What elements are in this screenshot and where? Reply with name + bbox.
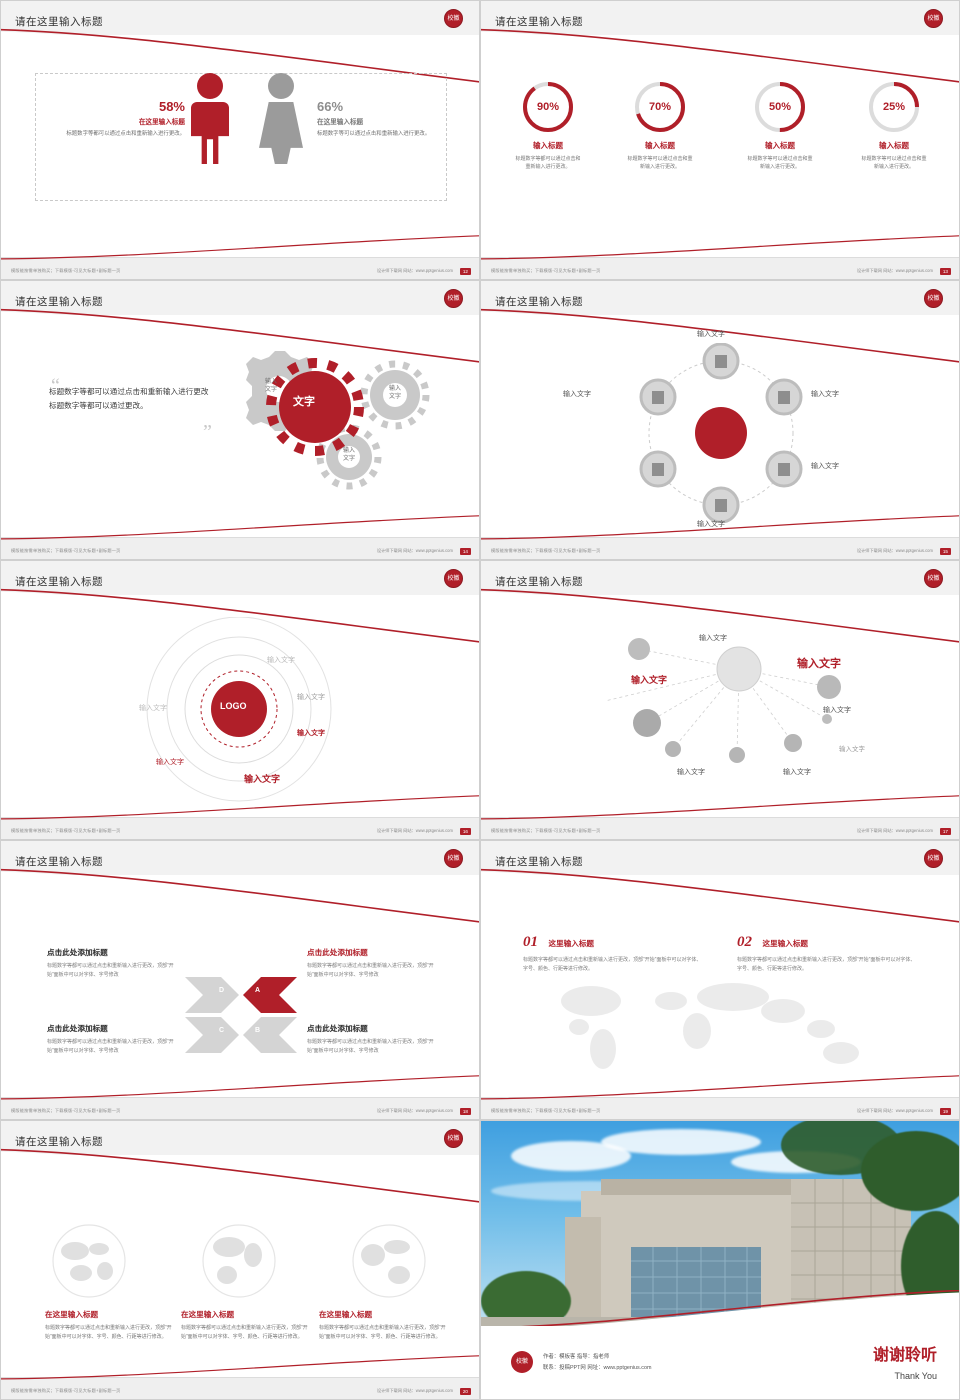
slide-logo-orbit: 请在这里输入标题 校徽 LOGO 输入文字 输入文字 输入文字 输入文字 输入文… <box>480 280 960 560</box>
male-stats: 58% 在这里输入标题 标题数字等都可以通过点击和重新输入进行更改。 <box>63 99 185 139</box>
school-seal-icon: 校徽 <box>444 849 463 868</box>
donut-item: 90% 输入标题 标题数字等都可以通过点击和重新输入进行更改。 <box>493 79 603 171</box>
gear-label-2: 输入文字 <box>383 386 407 402</box>
center-gear-label: 文字 <box>293 393 315 409</box>
donut-value: 90% <box>520 79 576 135</box>
globe-body: 标题数字等都可以通过点击和重新输入进行更改，顶部“开始”面板中可以对字体、字号、… <box>45 1324 177 1342</box>
donut-label: 输入标题 <box>605 140 715 151</box>
orbit-diagram <box>621 343 821 523</box>
world-map-graphic <box>521 971 921 1081</box>
slide-grid: 请在这里输入标题 校徽 58% 在这里输入标题 标题数字等都可以通过点击和重新输… <box>0 0 960 1400</box>
donut-chart-90: 90% <box>520 79 576 135</box>
globe-body: 标题数字等都可以通过点击和重新输入进行更改，顶部“开始”面板中可以对字体、字号、… <box>181 1324 313 1342</box>
quadrant-block-tl: 点击此处添加标题 标题数字等都可以通过点击和重新输入进行更改，顶部“开始”面板中… <box>47 947 175 980</box>
network-label-highlight: 输入文字 <box>797 655 841 671</box>
quadrant-letter-d: D <box>219 987 224 994</box>
footer-swoosh <box>480 795 960 825</box>
concentric-rings-diagram <box>119 617 369 817</box>
globe-column-1: 在这里输入标题 标题数字等都可以通过点击和重新输入进行更改，顶部“开始”面板中可… <box>45 1309 177 1342</box>
credit-block: 作者：模板客 指导：指老师 联系：投稿PPT网 网址：www.pptgenius… <box>543 1352 651 1373</box>
footer-swoosh <box>0 1075 480 1105</box>
page-title: 请在这里输入标题 <box>495 854 583 869</box>
school-seal-icon: 校徽 <box>924 569 943 588</box>
footer-left-note: 模版能按需单独购买；下载模版-可见大标题+副标题一页 <box>491 268 601 274</box>
gear-label-3: 输入文字 <box>337 448 361 464</box>
ring-label-3: 输入文字 <box>297 728 325 738</box>
donut-desc: 标题数字等可以通过点击和重新输入进行更改。 <box>605 155 715 171</box>
donut-item: 70% 输入标题 标题数字等可以通过点击和重新输入进行更改。 <box>605 79 715 171</box>
footer-left-note: 模版能按需单独购买；下载模版-可见大标题+副标题一页 <box>491 828 601 834</box>
footer-right-note: 设计师下载网 网站：www.pptgenius.com <box>857 828 933 834</box>
donut-value: 25% <box>866 79 922 135</box>
slide-four-quadrant: 请在这里输入标题 校徽 D A C B 点击此处添加标题 标题数字等都可以通过点… <box>0 840 480 1120</box>
point-title: 这里输入标题 <box>548 939 594 948</box>
page-number: 17 <box>940 828 951 835</box>
quadrant-letter-c: C <box>219 1027 224 1034</box>
header-swoosh <box>0 867 480 937</box>
page-title: 请在这里输入标题 <box>15 1134 103 1149</box>
footer-right-note: 设计师下载网 网站：www.pptgenius.com <box>377 268 453 274</box>
footer-left-note: 模版能按需单独购买；下载模版-可见大标题+副标题一页 <box>11 1108 121 1114</box>
female-title: 在这里输入标题 <box>317 116 443 126</box>
footer-right-note: 设计师下载网 网站：www.pptgenius.com <box>377 548 453 554</box>
male-percent: 58% <box>63 99 185 114</box>
page-number: 14 <box>460 548 471 555</box>
globe-title: 在这里输入标题 <box>45 1309 177 1320</box>
female-stats: 66% 在这里输入标题 标题数字等可以通过点击和重新输入进行更改。 <box>317 99 443 139</box>
footer-right-note: 设计师下载网 网站：www.pptgenius.com <box>857 1108 933 1114</box>
footer-left-note: 模版能按需单独购买；下载模版-可见大标题+副标题一页 <box>11 828 121 834</box>
quadrant-letter-b: B <box>255 1027 260 1034</box>
footer-left-note: 模版能按需单独购买；下载模版-可见大标题+副标题一页 <box>11 548 121 554</box>
school-seal-icon: 校徽 <box>511 1351 533 1373</box>
page-title: 请在这里输入标题 <box>495 294 583 309</box>
footer-swoosh <box>480 515 960 545</box>
school-seal-icon: 校徽 <box>924 849 943 868</box>
donut-desc: 标题数字等可以通过点击和重新输入进行更改。 <box>725 155 835 171</box>
slide-network-bubbles: 请在这里输入标题 校徽 输入文字 输入文字 输入文字 输入文字 输入文字 输入文… <box>480 560 960 840</box>
footer-left-note: 模版能按需单独购买；下载模版-可见大标题+副标题一页 <box>11 268 121 274</box>
school-seal-icon: 校徽 <box>444 9 463 28</box>
ring-label-5: 输入文字 <box>156 757 184 767</box>
donut-label: 输入标题 <box>493 140 603 151</box>
quadrant-body: 标题数字等都可以通过点击和重新输入进行更改，顶部“开始”面板中可以对字体、字号修… <box>307 962 435 980</box>
globe-body: 标题数字等都可以通过点击和重新输入进行更改，顶部“开始”面板中可以对字体、字号、… <box>319 1324 451 1342</box>
page-title: 请在这里输入标题 <box>495 14 583 29</box>
point-02: 02 这里输入标题 标题数字等都可以通过点击和重新输入进行更改，顶部“开始”面板… <box>737 933 917 974</box>
page-number: 20 <box>460 1388 471 1395</box>
globe-title: 在这里输入标题 <box>181 1309 313 1320</box>
slide-numbered-points: 请在这里输入标题 校徽 01 这里输入标题 标题数字等都可以通过点击和重新输入进… <box>480 840 960 1120</box>
footer-swoosh <box>0 1355 480 1385</box>
gear-cluster-icon <box>227 349 457 494</box>
slide-progress-donuts: 请在这里输入标题 校徽 90% 输入标题 标题数字等都可以通过点击和重新输入进行… <box>480 0 960 280</box>
donut-desc: 标题数字等都可以通过点击和重新输入进行更改。 <box>493 155 603 171</box>
donut-value: 50% <box>752 79 808 135</box>
quote-text: 标题数字等都可以通过点击和重新输入进行更改标题数字等都可以通过更改。 <box>49 385 209 414</box>
donut-item: 25% 输入标题 标题数字等可以通过点击和重新输入进行更改。 <box>839 79 949 171</box>
globe-title: 在这里输入标题 <box>319 1309 451 1320</box>
point-number: 01 <box>523 934 538 950</box>
orbit-center-label: LOGO <box>703 399 727 408</box>
donut-chart-70: 70% <box>632 79 688 135</box>
point-title: 这里输入标题 <box>762 939 808 948</box>
page-title: 请在这里输入标题 <box>15 294 103 309</box>
campus-photo <box>481 1121 960 1326</box>
donut-item: 50% 输入标题 标题数字等可以通过点击和重新输入进行更改。 <box>725 79 835 171</box>
page-number: 12 <box>460 268 471 275</box>
ring-label-2: 输入文字 <box>297 692 325 702</box>
globe-icon-3 <box>349 1221 429 1301</box>
quadrant-title: 点击此处添加标题 <box>307 947 435 958</box>
orbit-node-label-5: 输入文字 <box>563 389 591 399</box>
network-label-5: 输入文字 <box>677 767 705 777</box>
network-label-4: 输入文字 <box>783 767 811 777</box>
orbit-node-label-1: 输入文字 <box>697 329 725 339</box>
footer-swoosh <box>480 235 960 265</box>
globe-column-2: 在这里输入标题 标题数字等都可以通过点击和重新输入进行更改，顶部“开始”面板中可… <box>181 1309 313 1342</box>
page-title: 请在这里输入标题 <box>15 14 103 29</box>
photo-bottom-curve <box>481 1290 960 1326</box>
ring-label-1: 输入文字 <box>267 655 295 665</box>
female-desc: 标题数字等可以通过点击和重新输入进行更改。 <box>317 130 443 139</box>
donut-chart-25: 25% <box>866 79 922 135</box>
quadrant-block-tr: 点击此处添加标题 标题数字等都可以通过点击和重新输入进行更改，顶部“开始”面板中… <box>307 947 435 980</box>
quadrant-block-bl: 点击此处添加标题 标题数字等都可以通过点击和重新输入进行更改，顶部“开始”面板中… <box>47 1023 175 1056</box>
page-number: 19 <box>940 1108 951 1115</box>
page-number: 18 <box>460 1108 471 1115</box>
footer-left-note: 模版能按需单独购买；下载模版-可见大标题+副标题一页 <box>11 1388 121 1394</box>
page-title: 请在这里输入标题 <box>15 574 103 589</box>
donut-desc: 标题数字等可以通过点击和重新输入进行更改。 <box>839 155 949 171</box>
donut-chart-50: 50% <box>752 79 808 135</box>
point-body: 标题数字等都可以通过点击和重新输入进行更改，顶部“开始”面板中可以对字体、字号、… <box>737 956 917 974</box>
donut-label: 输入标题 <box>839 140 949 151</box>
quote-close-icon: ” <box>203 421 212 444</box>
donut-label: 输入标题 <box>725 140 835 151</box>
point-01: 01 这里输入标题 标题数字等都可以通过点击和重新输入进行更改，顶部“开始”面板… <box>523 933 703 974</box>
footer-swoosh <box>0 515 480 545</box>
gear-label-1: 输入文字 <box>259 379 283 395</box>
footer-left-note: 模版能按需单独购买；下载模版-可见大标题+副标题一页 <box>491 1108 601 1114</box>
school-seal-icon: 校徽 <box>444 569 463 588</box>
cloud-shape <box>601 1129 761 1155</box>
page-number: 16 <box>460 828 471 835</box>
header-swoosh <box>0 1147 480 1217</box>
rings-center-label: LOGO <box>220 701 247 711</box>
thanks-chinese: 谢谢聆听 <box>873 1341 937 1365</box>
male-title: 在这里输入标题 <box>63 116 185 126</box>
footer-swoosh <box>0 795 480 825</box>
tree-foliage <box>861 1131 960 1211</box>
network-label-left: 输入文字 <box>631 673 667 686</box>
quadrant-title: 点击此处添加标题 <box>47 947 175 958</box>
network-label-1: 输入文字 <box>699 633 727 643</box>
footer-right-note: 设计师下载网 网站：www.pptgenius.com <box>857 268 933 274</box>
ring-label-6: 输入文字 <box>139 703 167 713</box>
slide-concentric-rings: 请在这里输入标题 校徽 LOGO 输入文字 输入文字 输入文字 输入文字 输入文… <box>0 560 480 840</box>
male-desc: 标题数字等都可以通过点击和重新输入进行更改。 <box>63 130 185 139</box>
credit-line-2: 联系：投稿PPT网 网址：www.pptgenius.com <box>543 1363 651 1373</box>
quadrant-body: 标题数字等都可以通过点击和重新输入进行更改，顶部“开始”面板中可以对字体、字号修… <box>307 1038 435 1056</box>
orbit-node-label-2: 输入文字 <box>811 389 839 399</box>
network-label-3: 输入文字 <box>839 743 865 753</box>
page-title: 请在这里输入标题 <box>15 854 103 869</box>
orbit-node-label-3: 输入文字 <box>811 461 839 471</box>
footer-right-note: 设计师下载网 网站：www.pptgenius.com <box>857 548 933 554</box>
page-number: 13 <box>940 268 951 275</box>
footer-swoosh <box>0 235 480 265</box>
slide-three-globes: 请在这里输入标题 校徽 在这里输入标题 标题数字等都可以通过点击和重新输入进行更… <box>0 1120 480 1400</box>
building-roof <box>601 1179 791 1195</box>
ring-label-4: 输入文字 <box>244 772 280 785</box>
page-title: 请在这里输入标题 <box>495 574 583 589</box>
quadrant-title: 点击此处添加标题 <box>307 1023 435 1034</box>
thanks-english: Thank You <box>894 1371 937 1381</box>
footer-right-note: 设计师下载网 网站：www.pptgenius.com <box>377 828 453 834</box>
school-seal-icon: 校徽 <box>444 289 463 308</box>
quadrant-title: 点击此处添加标题 <box>47 1023 175 1034</box>
header-swoosh <box>480 867 960 937</box>
school-seal-icon: 校徽 <box>924 289 943 308</box>
footer-left-note: 模版能按需单独购买；下载模版-可见大标题+副标题一页 <box>491 548 601 554</box>
point-number: 02 <box>737 934 752 950</box>
donut-value: 70% <box>632 79 688 135</box>
quadrant-letter-a: A <box>255 987 260 994</box>
globe-icon-2 <box>199 1221 279 1301</box>
globe-column-3: 在这里输入标题 标题数字等都可以通过点击和重新输入进行更改，顶部“开始”面板中可… <box>319 1309 451 1342</box>
globe-icon-1 <box>49 1221 129 1301</box>
quadrant-block-br: 点击此处添加标题 标题数字等都可以通过点击和重新输入进行更改，顶部“开始”面板中… <box>307 1023 435 1056</box>
arrow-cluster-icon <box>181 967 301 1057</box>
slide-gender-ratio: 请在这里输入标题 校徽 58% 在这里输入标题 标题数字等都可以通过点击和重新输… <box>0 0 480 280</box>
footer-right-note: 设计师下载网 网站：www.pptgenius.com <box>377 1388 453 1394</box>
male-figure-icon <box>191 73 229 164</box>
page-number: 15 <box>940 548 951 555</box>
quadrant-body: 标题数字等都可以通过点击和重新输入进行更改，顶部“开始”面板中可以对字体、字号修… <box>47 962 175 980</box>
school-seal-icon: 校徽 <box>924 9 943 28</box>
footer-right-note: 设计师下载网 网站：www.pptgenius.com <box>377 1108 453 1114</box>
footer-swoosh <box>480 1075 960 1105</box>
female-figure-icon <box>259 73 303 164</box>
female-percent: 66% <box>317 99 443 114</box>
network-label-2: 输入文字 <box>823 705 851 715</box>
slide-gears-quote: 请在这里输入标题 校徽 “ ” 标题数字等都可以通过点击和重新输入进行更改标题数… <box>0 280 480 560</box>
point-body: 标题数字等都可以通过点击和重新输入进行更改，顶部“开始”面板中可以对字体、字号、… <box>523 956 703 974</box>
quadrant-body: 标题数字等都可以通过点击和重新输入进行更改，顶部“开始”面板中可以对字体、字号修… <box>47 1038 175 1056</box>
credit-line-1: 作者：模板客 指导：指老师 <box>543 1352 651 1362</box>
school-seal-icon: 校徽 <box>444 1129 463 1148</box>
slide-thank-you: 校徽 作者：模板客 指导：指老师 联系：投稿PPT网 网址：www.pptgen… <box>480 1120 960 1400</box>
